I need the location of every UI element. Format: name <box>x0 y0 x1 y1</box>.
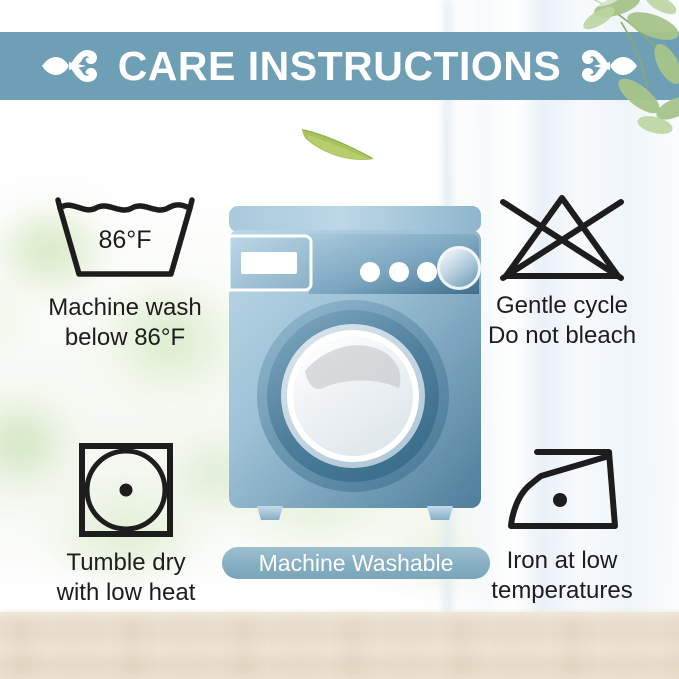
detergent-drawer-handle[interactable] <box>241 252 297 274</box>
header-banner: CARE INSTRUCTIONS <box>0 32 679 100</box>
machine-washable-badge: Machine Washable <box>222 547 490 579</box>
washing-machine-illustration <box>227 206 483 536</box>
badge-label: Machine Washable <box>259 552 454 575</box>
symbol-label-gentle-cycle-no-bleach: Gentle cycle Do not bleach <box>452 291 672 351</box>
table-edge-highlight <box>0 612 679 622</box>
fleur-de-lis-icon <box>575 40 639 92</box>
wash-tub-icon: 86°F <box>50 190 200 285</box>
control-button[interactable] <box>417 262 437 282</box>
symbol-gentle-cycle-no-bleach: Gentle cycle Do not bleach <box>452 190 672 351</box>
tumble-dry-square-circle-icon <box>76 440 176 540</box>
care-instructions-infographic: CARE INSTRUCTIONS <box>0 0 679 679</box>
triangle-crossed-out-icon <box>487 190 637 285</box>
control-button[interactable] <box>389 262 409 282</box>
background-wooden-table <box>0 612 679 679</box>
symbol-tumble-dry-low: Tumble dry with low heat <box>12 440 240 608</box>
control-button[interactable] <box>360 262 380 282</box>
page-title: CARE INSTRUCTIONS <box>118 46 562 87</box>
symbol-label-machine-wash: Machine wash below 86°F <box>10 293 240 353</box>
symbol-iron-low-temp: Iron at low temperatures <box>452 440 672 606</box>
table-grain-texture <box>0 612 679 679</box>
symbol-label-tumble-dry-low: Tumble dry with low heat <box>12 548 240 608</box>
machine-foot-left <box>257 506 283 520</box>
machine-foot-right <box>427 506 453 520</box>
wash-temperature-text: 86°F <box>98 226 151 254</box>
fleur-de-lis-icon <box>40 40 104 92</box>
control-dial[interactable] <box>440 249 478 287</box>
iron-one-dot-icon <box>497 440 627 540</box>
machine-top-lid <box>229 206 481 232</box>
symbol-machine-wash: 86°F Machine wash below 86°F <box>10 190 240 353</box>
